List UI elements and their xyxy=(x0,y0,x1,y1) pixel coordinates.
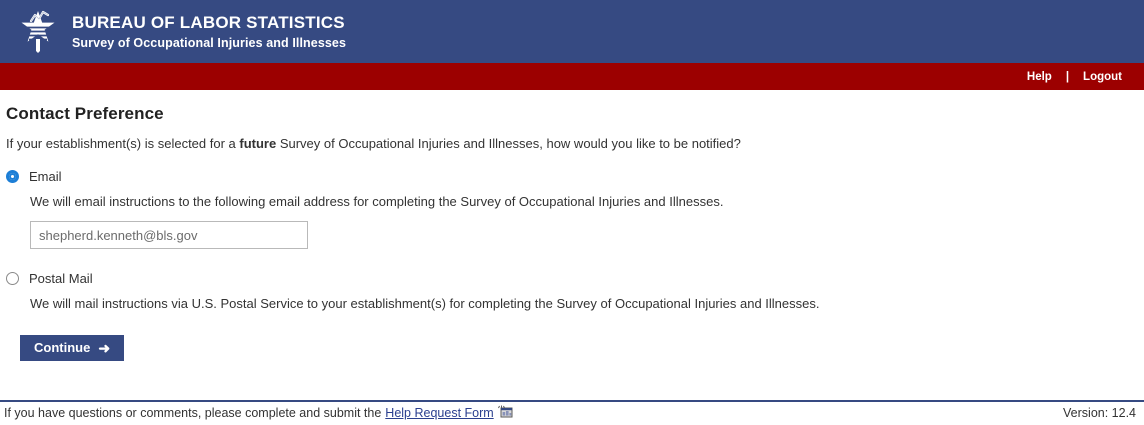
main-content: Contact Preference If your establishment… xyxy=(0,90,1144,361)
email-description: We will email instructions to the follow… xyxy=(30,194,1144,209)
email-input[interactable] xyxy=(30,221,308,249)
external-window-icon[interactable] xyxy=(498,405,513,421)
help-link[interactable]: Help xyxy=(1027,71,1052,83)
header-text-block: BUREAU OF LABOR STATISTICS Survey of Occ… xyxy=(72,13,346,50)
survey-title: Survey of Occupational Injuries and Illn… xyxy=(72,36,346,50)
page-title: Contact Preference xyxy=(6,104,1144,124)
nav-separator: | xyxy=(1066,71,1069,83)
agency-title: BUREAU OF LABOR STATISTICS xyxy=(72,13,346,33)
postal-mail-description: We will mail instructions via U.S. Posta… xyxy=(30,296,1144,311)
top-nav-bar: Help | Logout xyxy=(0,63,1144,90)
page-footer: If you have questions or comments, pleas… xyxy=(0,400,1144,425)
site-header: BUREAU OF LABOR STATISTICS Survey of Occ… xyxy=(0,0,1144,63)
footer-message: If you have questions or comments, pleas… xyxy=(4,405,513,421)
bls-star-logo-icon xyxy=(16,9,60,55)
email-field-wrapper xyxy=(30,221,1144,249)
version-label: Version: 12.4 xyxy=(1063,406,1140,420)
radio-email[interactable] xyxy=(6,170,19,183)
radio-email-label: Email xyxy=(29,169,62,184)
radio-option-email[interactable]: Email xyxy=(6,169,1144,184)
radio-postal-mail[interactable] xyxy=(6,272,19,285)
question-text: If your establishment(s) is selected for… xyxy=(6,136,1144,151)
question-suffix: Survey of Occupational Injuries and Illn… xyxy=(276,136,741,151)
question-prefix: If your establishment(s) is selected for… xyxy=(6,136,239,151)
radio-postal-mail-label: Postal Mail xyxy=(29,271,93,286)
continue-button[interactable]: Continue ➜ xyxy=(20,335,124,361)
question-emphasis: future xyxy=(239,136,276,151)
footer-text: If you have questions or comments, pleas… xyxy=(4,406,381,420)
logout-link[interactable]: Logout xyxy=(1083,71,1122,83)
radio-option-postal-mail[interactable]: Postal Mail xyxy=(6,271,1144,286)
continue-button-label: Continue xyxy=(34,335,90,361)
arrow-right-icon: ➜ xyxy=(98,341,110,355)
help-request-form-link[interactable]: Help Request Form xyxy=(385,406,493,420)
